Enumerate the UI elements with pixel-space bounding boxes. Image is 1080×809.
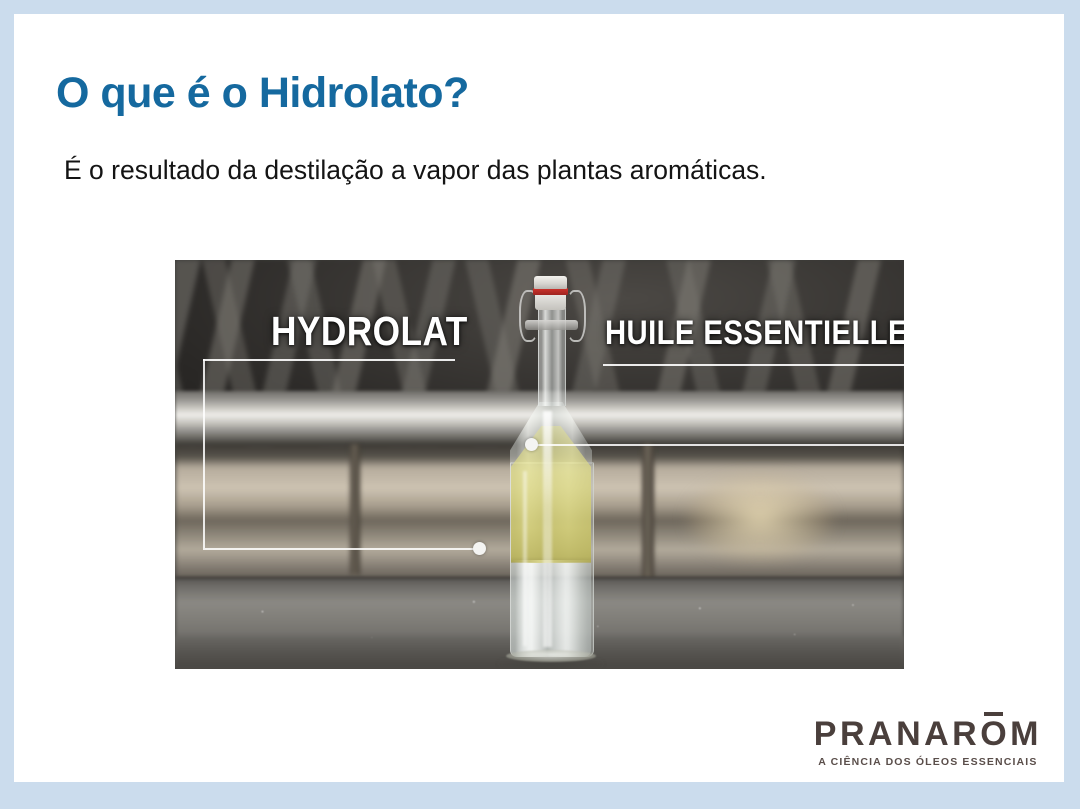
swing-top-wire-right [566, 290, 586, 342]
underline-huile-essentielle [603, 364, 904, 366]
logo-wordmark: PRANAROM [814, 717, 1042, 751]
bottle-stopper-body [535, 294, 566, 310]
shelf-post-right [642, 444, 654, 579]
slide-canvas: O que é o Hidrolato? É o resultado da de… [14, 14, 1064, 782]
swing-top-lever [525, 320, 578, 330]
leader-line-hydrolat [203, 359, 481, 550]
hydrolat-photo: HYDROLAT HUILE ESSENTIELLE [175, 260, 904, 669]
bottle-highlight [543, 411, 552, 647]
leader-line-huile-essentielle [531, 364, 904, 446]
logo-wordmark-text: PRANAROM [814, 715, 1042, 753]
bottle-base [506, 650, 596, 662]
annotation-label-huile-essentielle: HUILE ESSENTIELLE [605, 314, 904, 353]
logo-macron-icon [984, 712, 1003, 716]
slide: O que é o Hidrolato? É o resultado da de… [0, 0, 1080, 809]
glass-bottle [497, 276, 605, 669]
callout-dot-huile-essentielle [525, 438, 538, 451]
logo-tagline: A CIÊNCIA DOS ÓLEOS ESSENCIAIS [814, 756, 1042, 768]
bottle-stopper-cap [534, 276, 567, 289]
slide-subtitle: É o resultado da destilação a vapor das … [64, 155, 767, 186]
underline-hydrolat [203, 359, 455, 361]
background-light-glow [685, 473, 835, 563]
annotation-label-hydrolat: HYDROLAT [271, 308, 468, 355]
page-title: O que é o Hidrolato? [56, 69, 469, 118]
bottle-red-gasket [533, 288, 568, 295]
pranarom-logo: PRANAROM A CIÊNCIA DOS ÓLEOS ESSENCIAIS [814, 717, 1042, 768]
bottle-highlight-secondary [523, 471, 527, 646]
callout-dot-hydrolat [473, 542, 486, 555]
